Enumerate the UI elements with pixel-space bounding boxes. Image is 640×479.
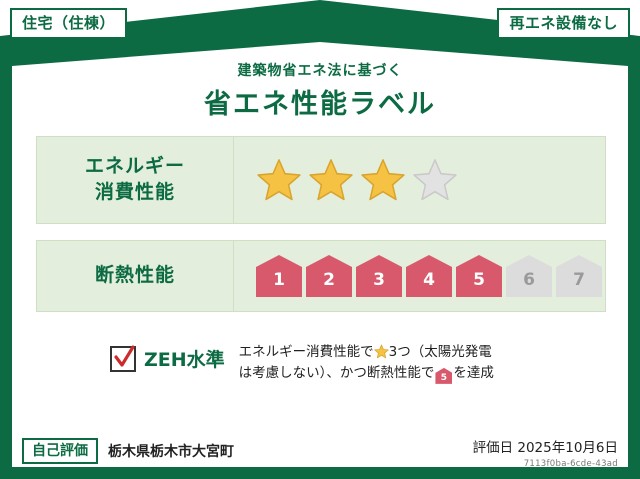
zeh-checkbox[interactable] (110, 346, 136, 372)
grade-number: 6 (523, 272, 535, 297)
grade-number: 7 (573, 272, 585, 297)
zeh-title: ZEH水準 (144, 345, 225, 372)
label-subtitle: 建築物省エネ法に基づく (0, 60, 640, 80)
insulation-grade-scale: 1 2 3 4 5 (256, 255, 602, 297)
grade-number: 4 (423, 272, 435, 297)
insulation-grade-7: 7 (556, 255, 602, 297)
star-icon-inline (374, 344, 389, 359)
insulation-grade-3: 3 (356, 255, 402, 297)
energy-performance-stars-area (234, 137, 605, 223)
insulation-grade-5: 5 (456, 255, 502, 297)
energy-performance-row: エネルギー 消費性能 (36, 136, 606, 224)
insulation-grades-area: 1 2 3 4 5 (234, 241, 605, 311)
zeh-section: ZEH水準 エネルギー消費性能で3つ（太陽光発電は考慮しない）、かつ断熱性能で5… (110, 342, 590, 384)
insulation-performance-label-text: 断熱性能 (37, 241, 234, 311)
house-shape-icon-inline: 5 (435, 368, 452, 384)
energy-label-line2: 消費性能 (95, 180, 175, 206)
insulation-grade-2: 2 (306, 255, 352, 297)
building-type-tag: 住宅（住棟） (10, 8, 127, 39)
evaluation-id: 7113f0ba-6cde-43ad (473, 459, 618, 469)
check-icon (113, 345, 135, 371)
insulation-grade-4: 4 (406, 255, 452, 297)
renewable-energy-tag: 再エネ設備なし (497, 8, 630, 39)
insulation-grade-6: 6 (506, 255, 552, 297)
zeh-desc-line2-part1: は考慮しない）、かつ断熱性能で (239, 365, 435, 381)
star-icon-filled-1 (256, 157, 302, 203)
insulation-grade-1: 1 (256, 255, 302, 297)
zeh-description: エネルギー消費性能で3つ（太陽光発電は考慮しない）、かつ断熱性能で5を達成 (239, 342, 494, 384)
grade-number: 5 (473, 272, 485, 297)
star-rating (256, 157, 458, 203)
label-title: 省エネ性能ラベル (0, 82, 640, 121)
zeh-desc-part2: 3つ（太陽光発電 (389, 344, 492, 360)
grade-number: 1 (273, 272, 285, 297)
grade-number: 3 (373, 272, 385, 297)
evaluation-footer-left: 自己評価 栃木県栃木市大宮町 (22, 438, 234, 464)
evaluation-date: 評価日 2025年10月6日 (473, 436, 618, 456)
grade-number: 2 (323, 272, 335, 297)
evaluation-type-tag: 自己評価 (22, 438, 98, 464)
star-icon-empty-4 (412, 157, 458, 203)
evaluation-footer-right: 評価日 2025年10月6日 7113f0ba-6cde-43ad (473, 436, 618, 469)
zeh-desc-line2-part2: を達成 (453, 365, 494, 381)
zeh-desc-part1: エネルギー消費性能で (239, 344, 374, 360)
star-icon-filled-3 (360, 157, 406, 203)
energy-performance-label: 住宅（住棟） 再エネ設備なし 建築物省エネ法に基づく 省エネ性能ラベル エネルギ… (0, 0, 640, 479)
star-icon-filled-2 (308, 157, 354, 203)
energy-performance-label-text: エネルギー 消費性能 (37, 137, 234, 223)
insulation-performance-row: 断熱性能 1 2 3 4 (36, 240, 606, 312)
inline-grade-number: 5 (435, 368, 452, 388)
evaluation-location: 栃木県栃木市大宮町 (108, 441, 234, 461)
energy-label-line1: エネルギー (85, 154, 185, 180)
